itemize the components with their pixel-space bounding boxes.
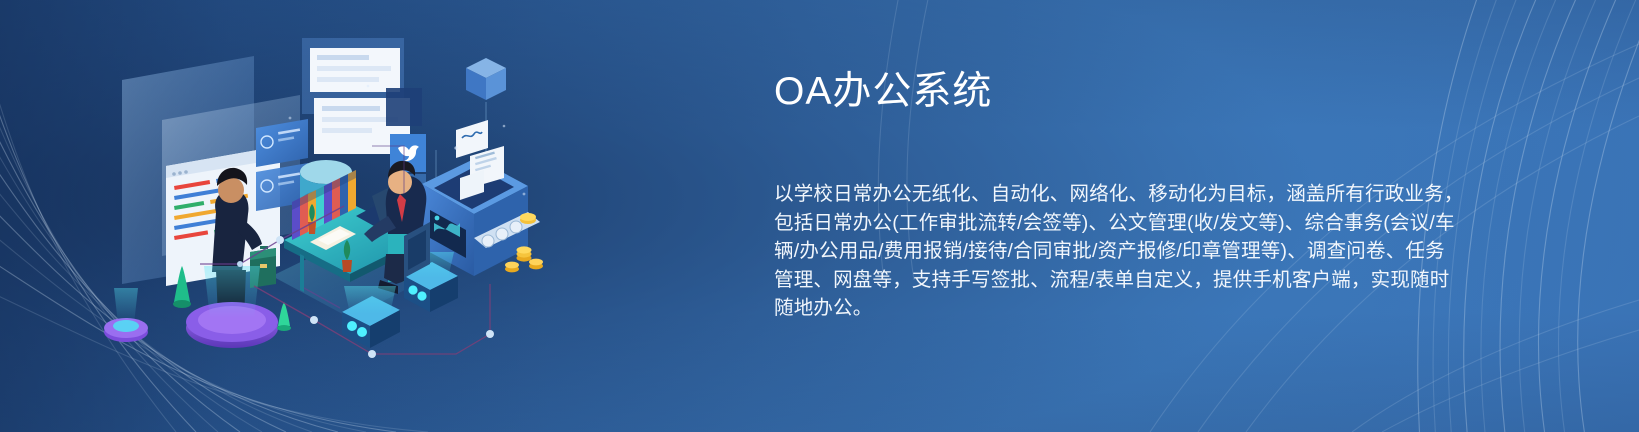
banner-content: OA办公系统 以学校日常办公无纸化、自动化、网络化、移动化为目标，涵盖所有行政业… (774, 66, 1494, 323)
floating-cube (466, 58, 506, 100)
description-line-3: 辆/办公用品/费用报销/接待/合同审批/资产报修/印章管理等)、调查问卷、任务 (774, 237, 1464, 266)
oa-system-banner: OA办公系统 以学校日常办公无纸化、自动化、网络化、移动化为目标，涵盖所有行政业… (0, 0, 1639, 432)
page-title: OA办公系统 (774, 66, 1494, 118)
description-line-1: 以学校日常办公无纸化、自动化、网络化、移动化为目标，涵盖所有行政业务， (774, 180, 1464, 209)
page-description: 以学校日常办公无纸化、自动化、网络化、移动化为目标，涵盖所有行政业务， 包括日常… (774, 180, 1464, 323)
description-line-2: 包括日常办公(工作审批流转/会签等)、公文管理(收/发文等)、综合事务(会议/车 (774, 209, 1464, 238)
isometric-office-collaboration-illustration (104, 26, 544, 376)
server-unit-a (342, 286, 400, 348)
description-line-5: 随地办公。 (774, 294, 1464, 323)
description-line-4: 管理、网盘等，支持手写签批、流程/表单自定义，提供手机客户端，实现随时 (774, 266, 1464, 295)
